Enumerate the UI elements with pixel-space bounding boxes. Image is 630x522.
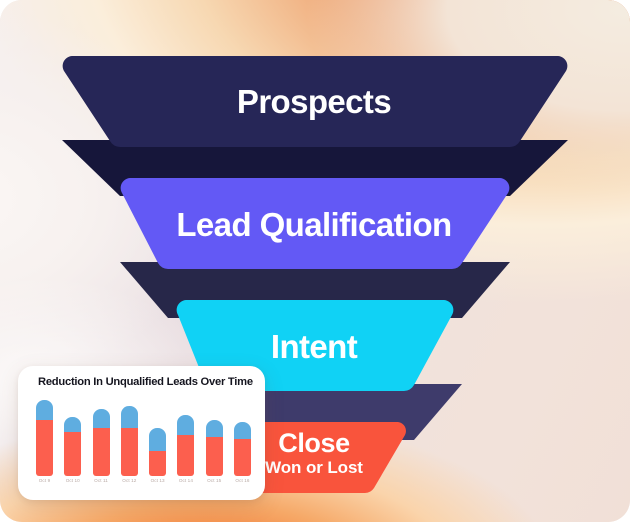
chart-x-axis-ticks: Oct 9Oct 10Oct 11Oct 12Oct 13Oct 14Oct 1… <box>36 478 251 490</box>
funnel-stage-sublabel-close: Won or Lost <box>265 458 363 477</box>
bar-segment-qualified <box>93 428 110 476</box>
bar-segment-qualified <box>36 420 53 476</box>
chart-card[interactable]: Reduction In Unqualified Leads Over Time… <box>18 366 265 500</box>
bar-stack <box>234 422 251 476</box>
bar-segment-unqualified <box>149 428 166 451</box>
bar-stack <box>177 415 194 476</box>
bar-segment-unqualified <box>177 415 194 435</box>
bar-segment-unqualified <box>36 400 53 420</box>
bar-segment-qualified <box>64 432 81 476</box>
x-axis-tick-label: Oct 12 <box>116 478 142 483</box>
bar-segment-qualified <box>121 428 138 476</box>
bar-stack <box>206 420 223 476</box>
funnel-infographic: Prospects Lead Qualification Intent Clos… <box>0 0 630 522</box>
bar-segment-unqualified <box>93 409 110 428</box>
bar-segment-unqualified <box>206 420 223 437</box>
bar-segment-unqualified <box>64 417 81 433</box>
funnel-stage-label-lead-qualification: Lead Qualification <box>176 206 451 243</box>
bar-stack <box>93 409 110 476</box>
bar-segment-qualified <box>149 451 166 476</box>
x-axis-tick-label: Oct 11 <box>88 478 114 483</box>
chart-plot-area <box>36 398 251 476</box>
bar-segment-qualified <box>206 437 223 476</box>
x-axis-tick-label: Oct 14 <box>173 478 199 483</box>
bar-stack <box>121 406 138 476</box>
chart-title: Reduction In Unqualified Leads Over Time <box>38 376 253 388</box>
x-axis-tick-label: Oct 10 <box>60 478 86 483</box>
bar-stack <box>36 400 53 476</box>
bar-segment-unqualified <box>121 406 138 428</box>
bar-segment-qualified <box>177 435 194 476</box>
bar-stack <box>149 428 166 476</box>
funnel-stage-label-close: Close <box>278 428 350 458</box>
funnel-stage-label-intent: Intent <box>271 328 358 365</box>
x-axis-tick-label: Oct 13 <box>145 478 171 483</box>
funnel-stage-label-prospects: Prospects <box>237 83 391 120</box>
x-axis-tick-label: Oct 9 <box>32 478 58 483</box>
bar-segment-unqualified <box>234 422 251 438</box>
x-axis-tick-label: Oct 15 <box>201 478 227 483</box>
bar-segment-qualified <box>234 439 251 476</box>
bar-stack <box>64 417 81 476</box>
x-axis-tick-label: Oct 16 <box>230 478 256 483</box>
